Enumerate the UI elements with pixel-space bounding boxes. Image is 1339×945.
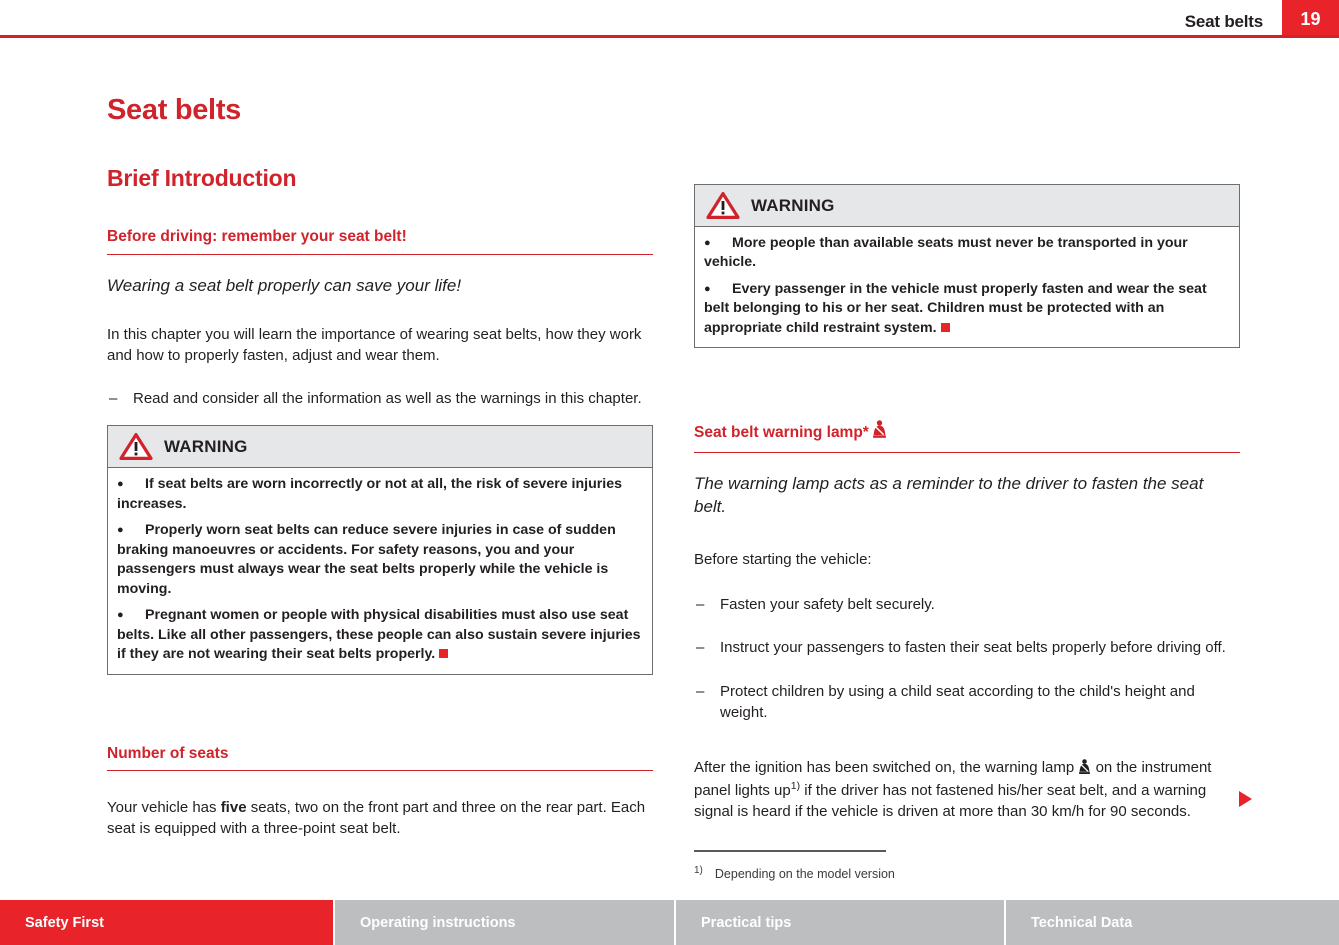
footer-tab-label: Safety First: [25, 915, 104, 931]
warning-item-text: Every passenger in the vehicle must prop…: [704, 281, 1207, 336]
warning-item-text: Pregnant women or people with physical d…: [117, 607, 641, 662]
chapter-title: Seat belts: [107, 96, 653, 125]
warning-item: Every passenger in the vehicle must prop…: [704, 280, 1230, 338]
warning-triangle-icon: [119, 432, 153, 461]
warning-box-header: WARNING: [108, 426, 652, 468]
page-number-box: 19: [1282, 0, 1339, 38]
warning-item-text: Properly worn seat belts can reduce seve…: [117, 522, 616, 596]
seats-count-bold: five: [221, 799, 247, 816]
warning-item: Properly worn seat belts can reduce seve…: [117, 521, 643, 599]
number-of-seats-paragraph: Your vehicle has five seats, two on the …: [107, 797, 653, 840]
subsection-title-before-driving: Before driving: remember your seat belt!: [107, 228, 653, 255]
dash-list-item: Instruct your passengers to fasten their…: [694, 637, 1240, 658]
footer-tab-safety-first[interactable]: Safety First: [0, 900, 335, 945]
subsection-title-number-of-seats: Number of seats: [107, 745, 653, 772]
footer-tab-label: Technical Data: [1031, 915, 1132, 931]
warning-box-left: WARNING If seat belts are worn incorrect…: [107, 425, 653, 674]
section-title: Brief Introduction: [107, 167, 653, 190]
warning-item-text: More people than available seats must ne…: [704, 235, 1188, 270]
subsection-title-warning-lamp: Seat belt warning lamp*: [694, 420, 1240, 453]
warning-item-text: If seat belts are worn incorrectly or no…: [117, 476, 622, 511]
footer-tab-label: Operating instructions: [360, 915, 516, 931]
dash-list-item: Read and consider all the information as…: [107, 388, 653, 409]
footnote-text: Depending on the model version: [715, 867, 895, 881]
seats-text-before: Your vehicle has: [107, 799, 221, 816]
seat-belt-lamp-icon: [872, 426, 887, 443]
intro-paragraph: In this chapter you will learn the impor…: [107, 324, 653, 367]
warning-triangle-icon: [706, 191, 740, 220]
warning-label: WARNING: [164, 437, 248, 457]
bullet-icon: [117, 606, 145, 625]
warning-item: If seat belts are worn incorrectly or no…: [117, 475, 643, 514]
footer-tab-operating-instructions[interactable]: Operating instructions: [335, 900, 676, 945]
warning-item: Pregnant women or people with physical d…: [117, 606, 643, 664]
footnote: 1)Depending on the model version: [694, 864, 1240, 882]
warning-box-header: WARNING: [695, 185, 1239, 227]
footer-tab-technical-data[interactable]: Technical Data: [1006, 900, 1339, 945]
footnote-reference: 1): [791, 780, 800, 792]
before-starting-paragraph: Before starting the vehicle:: [694, 549, 1240, 570]
bullet-icon: [704, 280, 732, 299]
footer-navigation: Safety First Operating instructions Prac…: [0, 900, 1339, 945]
warning-label: WARNING: [751, 196, 835, 216]
end-of-warning-marker: [439, 649, 448, 658]
warning-box-body: More people than available seats must ne…: [695, 227, 1239, 347]
closing-text-1: After the ignition has been switched on,…: [694, 759, 1078, 776]
end-of-warning-marker: [941, 323, 950, 332]
page-header: Seat belts 19: [0, 0, 1339, 38]
dash-list-item: Protect children by using a child seat a…: [694, 681, 1240, 724]
right-column: WARNING More people than available seats…: [694, 184, 1240, 882]
subsection-title-warning-lamp-text: Seat belt warning lamp*: [694, 424, 869, 441]
left-column: Seat belts Brief Introduction Before dri…: [107, 96, 653, 862]
bullet-icon: [117, 521, 145, 540]
bullet-icon: [117, 475, 145, 494]
header-chapter-title: Seat belts: [1185, 12, 1263, 32]
footnote-divider: [694, 850, 886, 851]
continue-arrow-icon: [1239, 791, 1252, 807]
warning-box-body: If seat belts are worn incorrectly or no…: [108, 468, 652, 673]
footer-tab-practical-tips[interactable]: Practical tips: [676, 900, 1006, 945]
lead-paragraph-left: Wearing a seat belt properly can save yo…: [107, 275, 653, 298]
warning-item: More people than available seats must ne…: [704, 234, 1230, 273]
header-divider-rule: [0, 35, 1339, 38]
footnote-number: 1): [694, 865, 703, 876]
lead-paragraph-right: The warning lamp acts as a reminder to t…: [694, 473, 1240, 519]
closing-paragraph: After the ignition has been switched on,…: [694, 757, 1240, 822]
seat-belt-lamp-icon-inline: [1078, 759, 1091, 775]
footer-tab-label: Practical tips: [701, 915, 791, 931]
page-number: 19: [1282, 9, 1339, 30]
dash-list-item: Fasten your safety belt securely.: [694, 594, 1240, 615]
warning-box-right: WARNING More people than available seats…: [694, 184, 1240, 348]
bullet-icon: [704, 234, 732, 253]
